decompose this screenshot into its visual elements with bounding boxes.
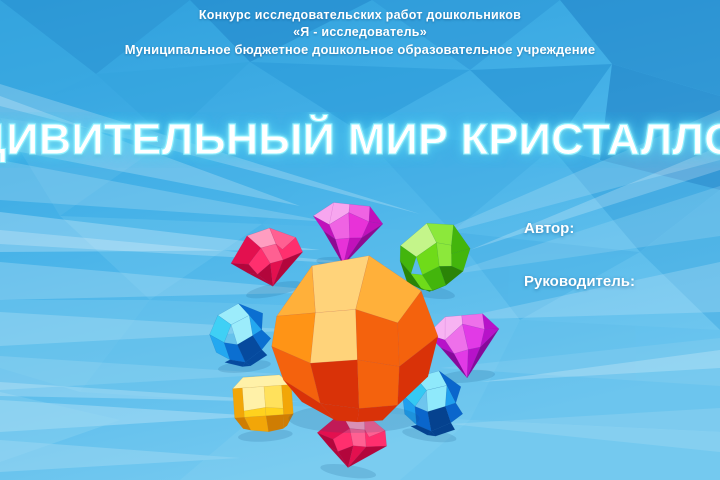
header-line-institution: Муниципальное бюджетное дошкольное образ…	[0, 41, 720, 59]
credits-block: Автор: Руководитель:	[524, 220, 639, 290]
presentation-slide: Конкурс исследовательских работ дошкольн…	[0, 0, 720, 480]
supervisor-label: Руководитель:	[524, 273, 635, 290]
header-line-competition: Конкурс исследовательских работ дошкольн…	[0, 7, 720, 24]
author-label: Автор:	[524, 220, 574, 237]
author-row: Автор:	[524, 220, 639, 237]
header-line-subtitle: «Я - исследователь»	[0, 24, 720, 41]
header-block: Конкурс исследовательских работ дошкольн…	[0, 0, 720, 59]
main-title-container: УДИВИТЕЛЬНЫЙ МИР КРИСТАЛЛОВ	[0, 112, 720, 168]
page-title: УДИВИТЕЛЬНЫЙ МИР КРИСТАЛЛОВ	[0, 112, 720, 168]
supervisor-row: Руководитель:	[524, 273, 639, 290]
